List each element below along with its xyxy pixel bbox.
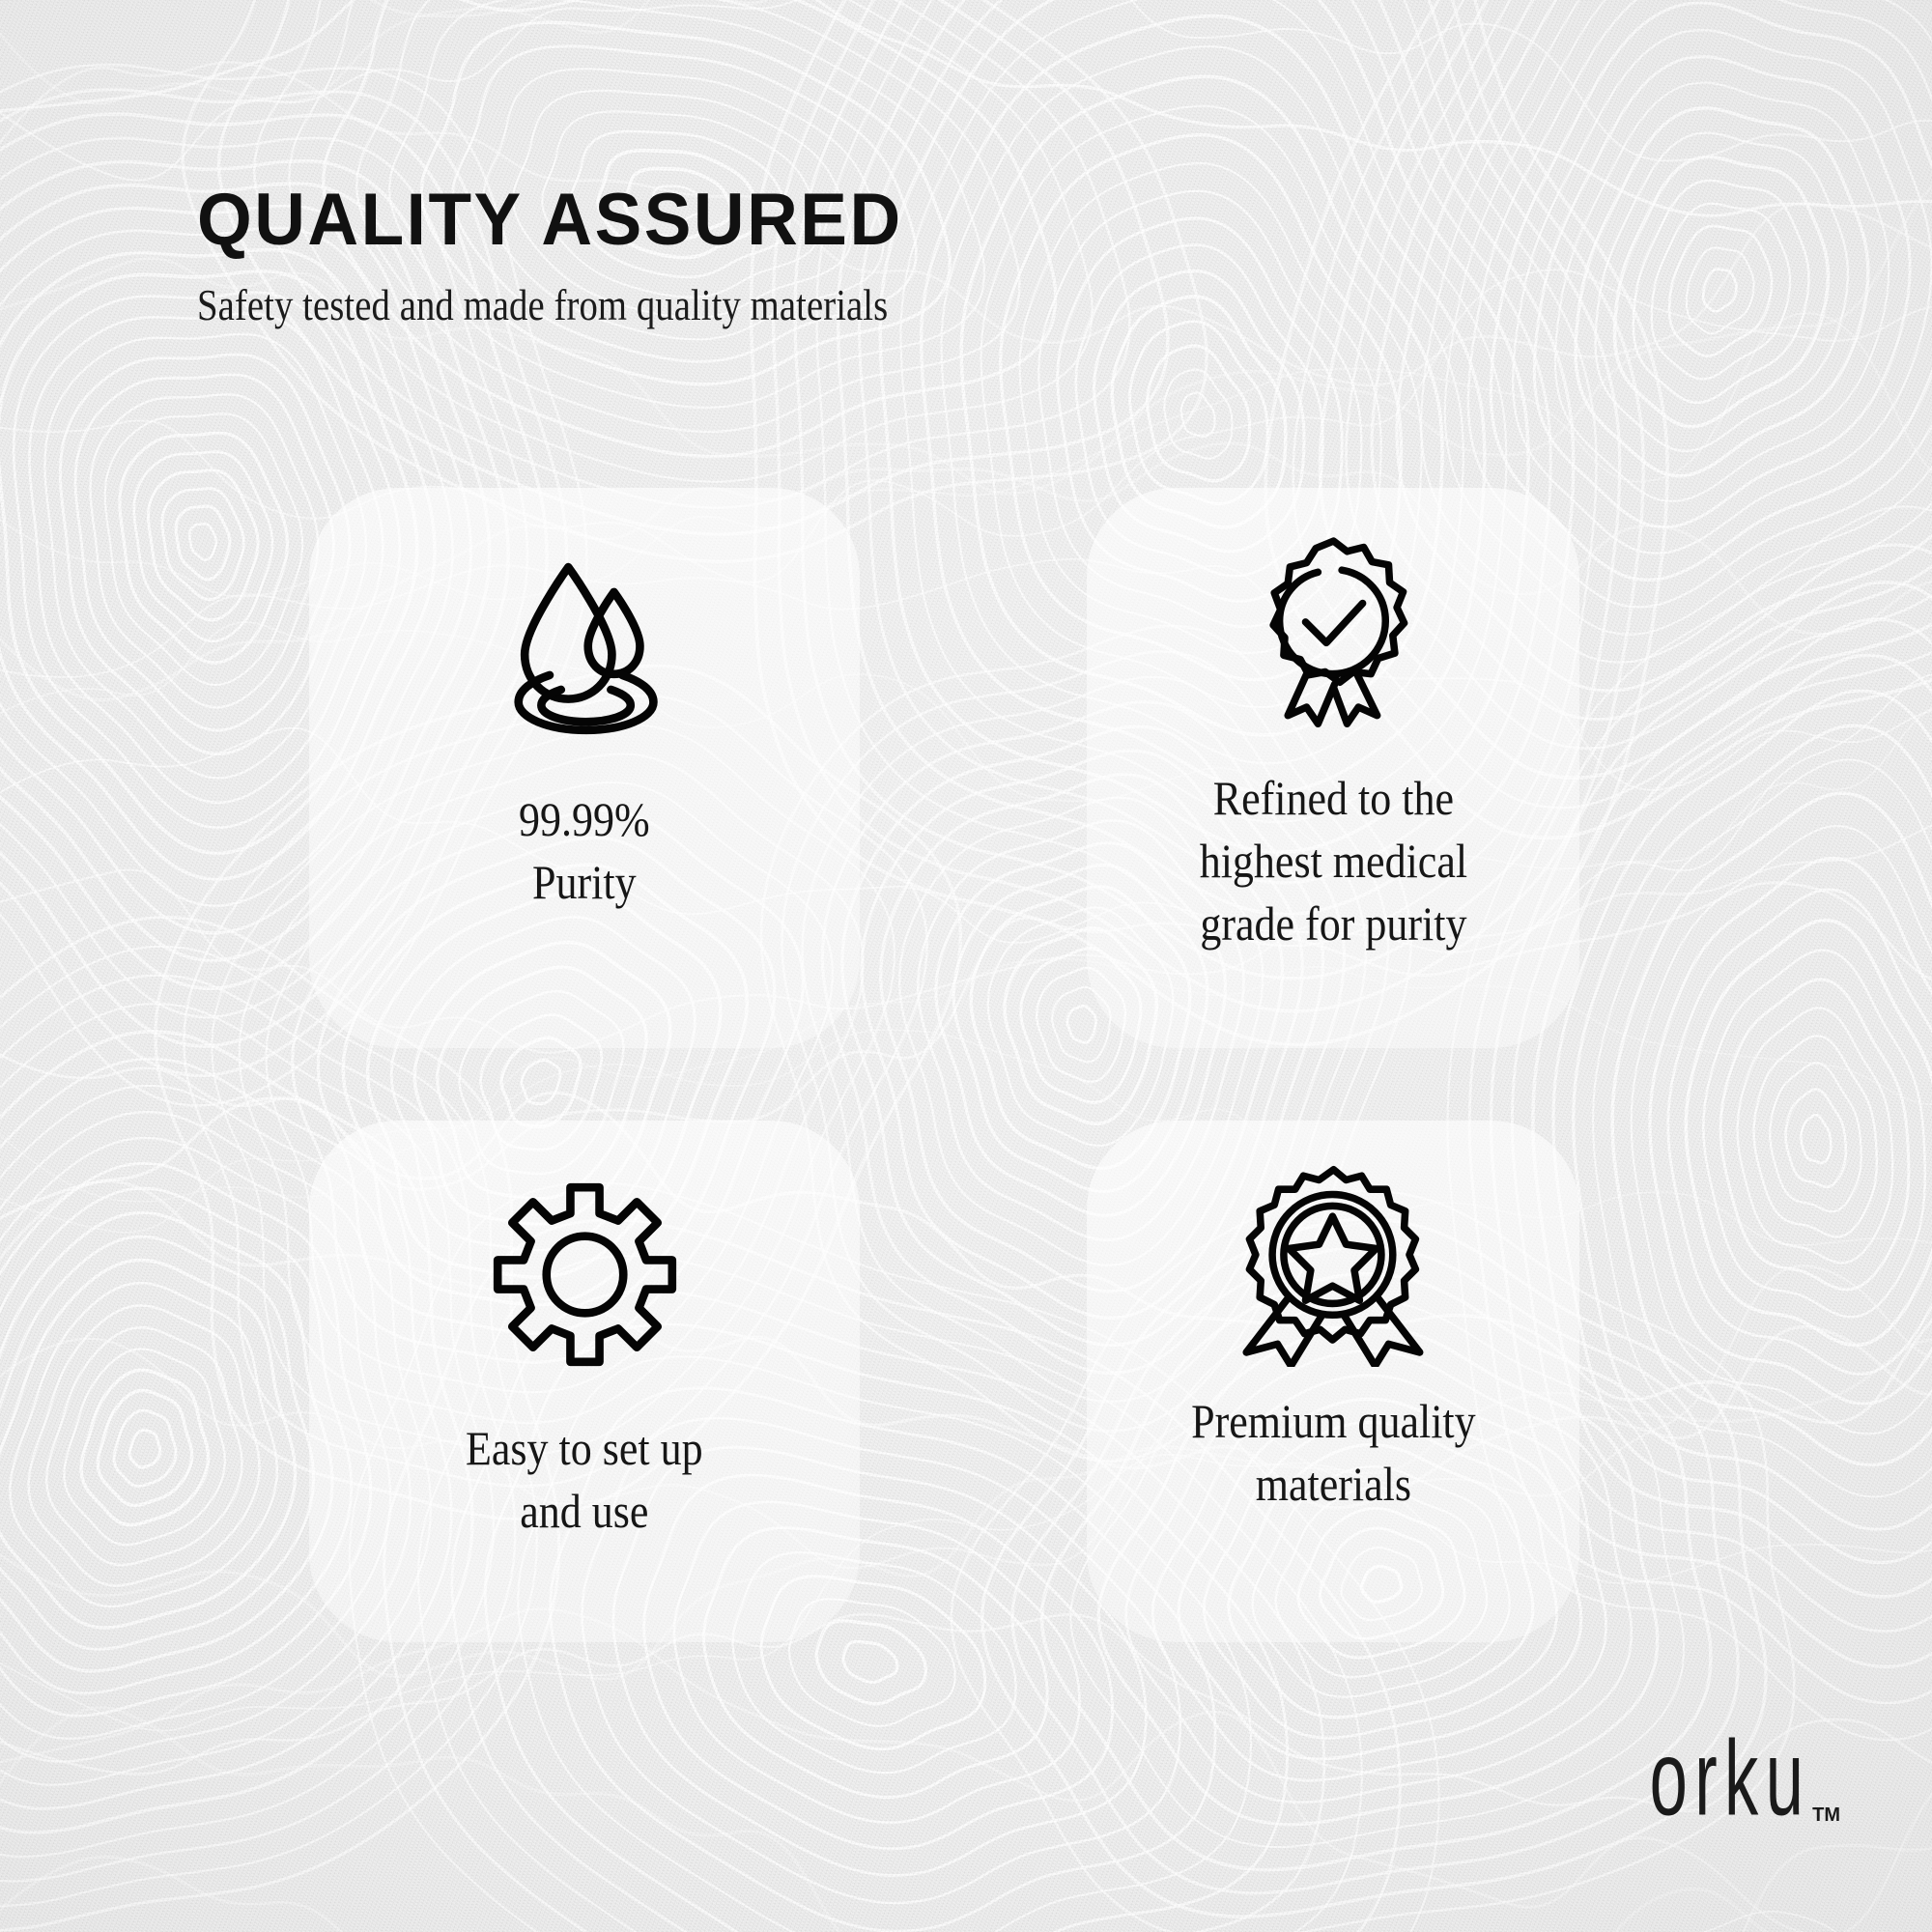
award-ribbon-check-icon [1230,526,1437,734]
brand-logo: orku TM [1614,1751,1840,1831]
feature-card-premium-materials[interactable]: Premium quality materials [1087,1121,1579,1642]
feature-card-grid: 99.99% Purity Refined to the highest med… [0,0,1932,1932]
gear-icon [481,1171,689,1378]
award-ribbon-star-icon [1230,1159,1437,1367]
trademark-symbol: TM [1812,1804,1840,1827]
feature-card-label: Easy to set up and use [323,1417,846,1543]
feature-card-label: Refined to the highest medical grade for… [1099,767,1568,955]
feature-card-label: Premium quality materials [1099,1390,1568,1516]
feature-card-medical-grade[interactable]: Refined to the highest medical grade for… [1087,488,1579,1048]
feature-card-purity[interactable]: 99.99% Purity [309,488,860,1048]
water-drop-icon [481,538,689,746]
feature-card-easy-setup[interactable]: Easy to set up and use [309,1121,860,1642]
poster-content: QUALITY ASSURED Safety tested and made f… [0,0,1932,1932]
feature-card-label: 99.99% Purity [323,788,846,914]
brand-name: orku [1649,1729,1810,1831]
